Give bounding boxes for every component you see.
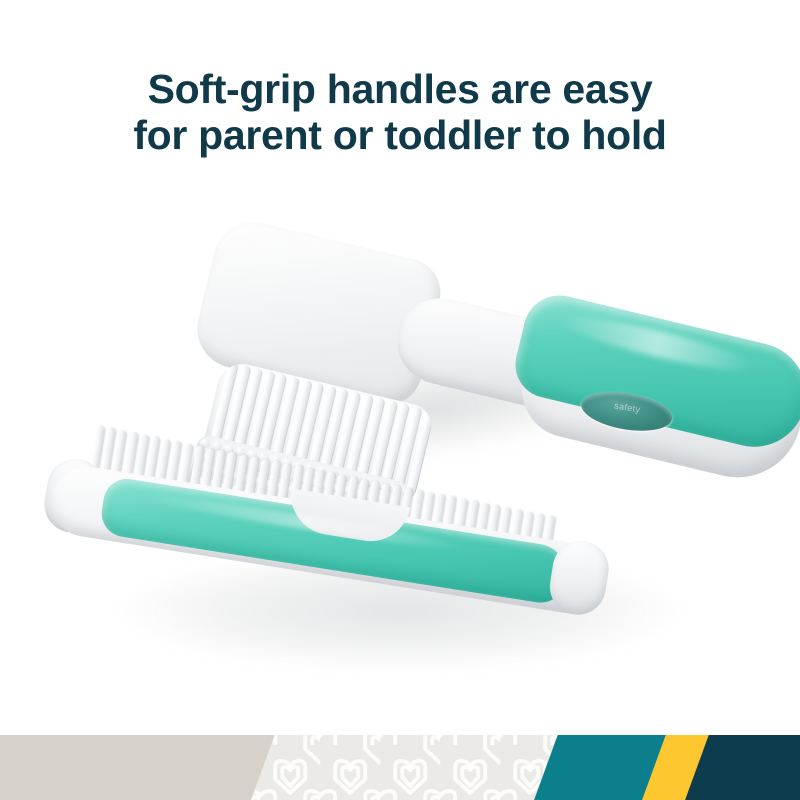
brand-bar bbox=[0, 735, 800, 800]
page-title: Soft-grip handles are easy for parent or… bbox=[0, 66, 800, 158]
heart-pattern-icon bbox=[242, 735, 582, 800]
headline-line-1: Soft-grip handles are easy bbox=[0, 66, 800, 112]
headline-line-2: for parent or toddler to hold bbox=[0, 112, 800, 158]
product-marketing-image: Soft-grip handles are easy for parent or… bbox=[0, 0, 800, 800]
product-photo: safety bbox=[0, 170, 800, 730]
brand-bar-heart-pattern-segment bbox=[242, 735, 582, 800]
